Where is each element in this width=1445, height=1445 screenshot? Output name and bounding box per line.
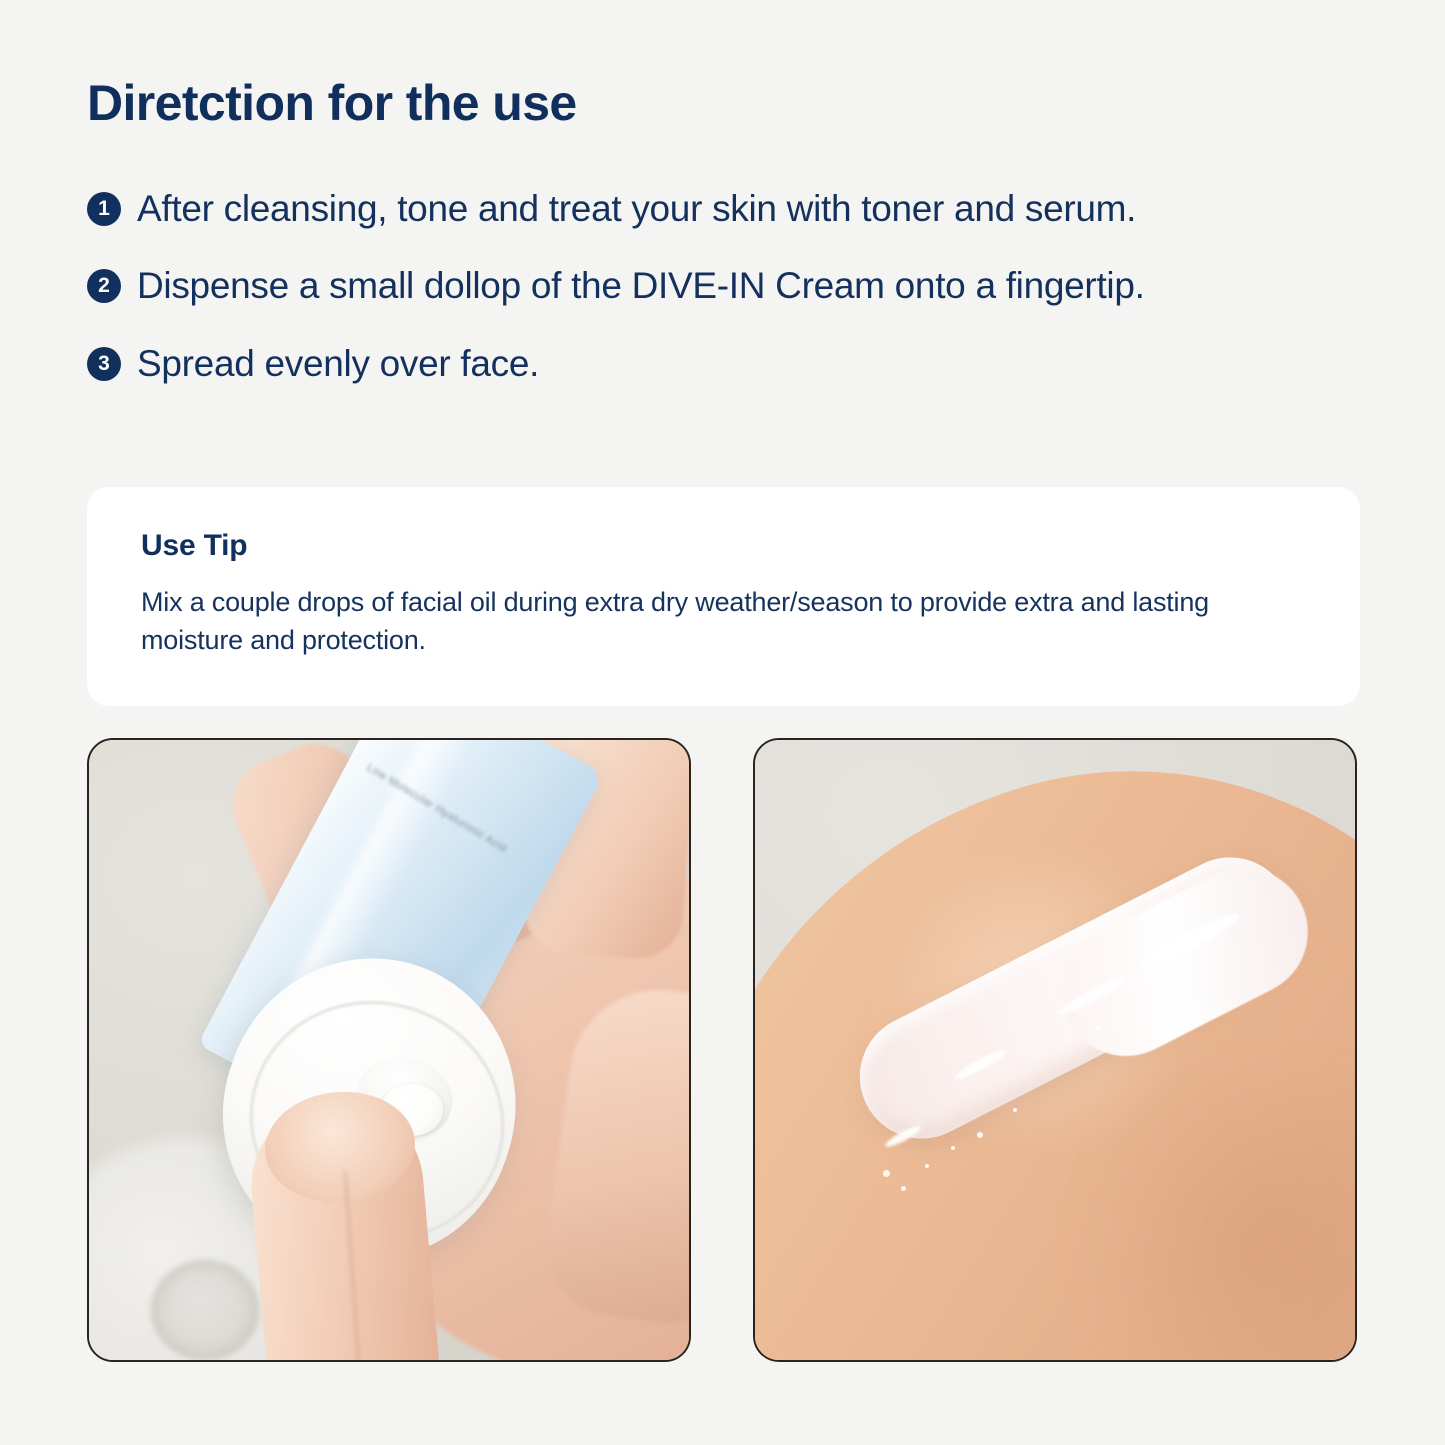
photo-content: Low Molecular Hyaluronic Acid [89, 740, 689, 1360]
use-tip-body: Mix a couple drops of facial oil during … [141, 583, 1276, 660]
cream-sparkle [1013, 1108, 1017, 1112]
product-direction-page: Diretction for the use 1 After cleansing… [0, 0, 1445, 1445]
steps-list: 1 After cleansing, tone and treat your s… [87, 185, 1357, 417]
list-item: 3 Spread evenly over face. [87, 340, 1357, 387]
cream-swatch-photo [753, 738, 1357, 1362]
use-tip-card: Use Tip Mix a couple drops of facial oil… [87, 487, 1360, 706]
step-text: Spread evenly over face. [137, 340, 539, 387]
step-number-badge: 1 [87, 192, 121, 226]
step-text: After cleansing, tone and treat your ski… [137, 185, 1136, 232]
cream-sparkle [977, 1132, 983, 1138]
use-tip-title: Use Tip [141, 529, 1308, 563]
step-text: Dispense a small dollop of the DIVE-IN C… [137, 262, 1145, 309]
cream-sparkle [1159, 962, 1165, 968]
loose-cap-ring-shape [151, 1260, 259, 1360]
cream-sparkle [1095, 1026, 1100, 1031]
step-number-badge: 3 [87, 347, 121, 381]
cream-sparkle [901, 1186, 906, 1191]
step-number-badge: 2 [87, 269, 121, 303]
cream-sparkle [951, 1146, 955, 1150]
list-item: 2 Dispense a small dollop of the DIVE-IN… [87, 262, 1357, 309]
page-title: Diretction for the use [87, 76, 577, 131]
cream-sparkle [883, 1170, 890, 1177]
cream-sparkle [925, 1164, 929, 1168]
list-item: 1 After cleansing, tone and treat your s… [87, 185, 1357, 232]
dispensing-cream-photo: Low Molecular Hyaluronic Acid [87, 738, 691, 1362]
photo-content [755, 740, 1355, 1360]
